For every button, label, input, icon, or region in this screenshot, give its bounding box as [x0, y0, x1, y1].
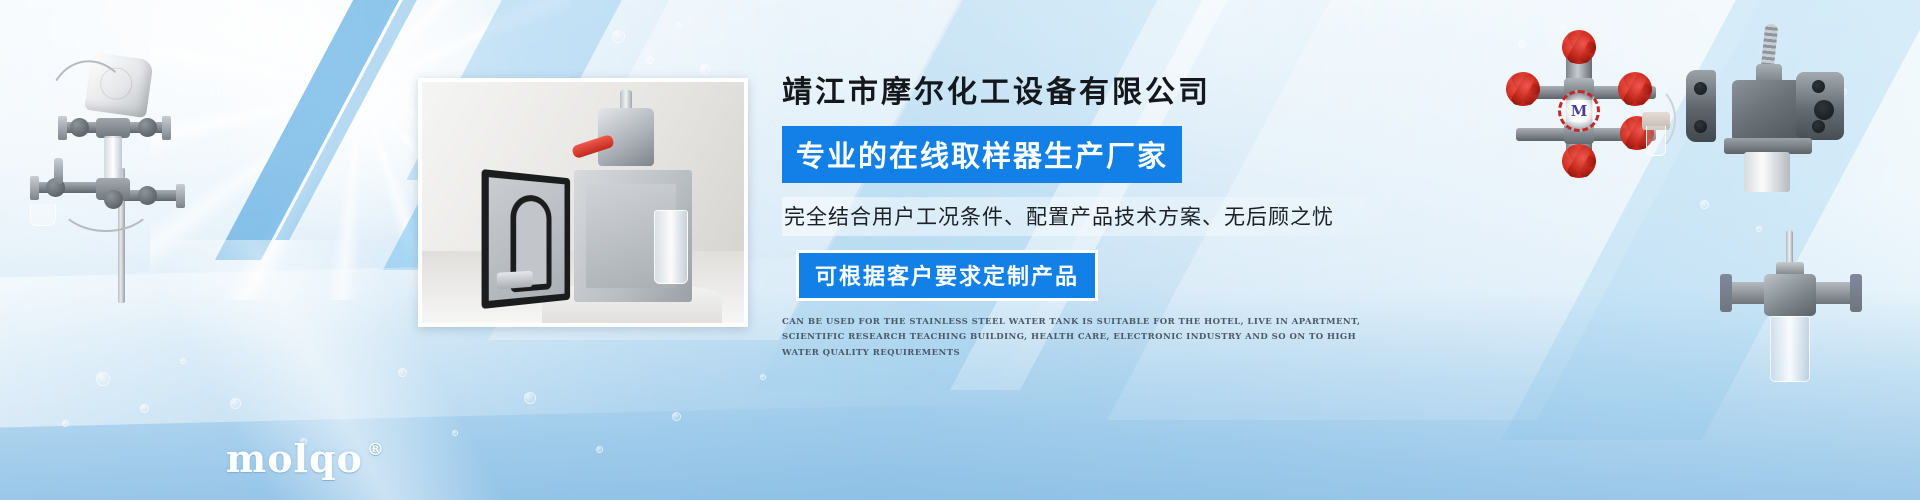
- banner-copy: 靖江市摩尔化工设备有限公司 专业的在线取样器生产厂家 完全结合用户工况条件、配置…: [782, 74, 1402, 362]
- company-seal-icon: M: [1558, 90, 1600, 132]
- english-description: CAN BE USED FOR THE STAINLESS STEEL WATE…: [782, 315, 1382, 362]
- brand-wordmark: molqo: [226, 440, 363, 478]
- product-photo-card: [418, 78, 748, 327]
- headline-badge: 专业的在线取样器生产厂家: [782, 126, 1182, 183]
- page-title: 靖江市摩尔化工设备有限公司: [782, 74, 1402, 112]
- product-image-sampler-left: [10, 18, 240, 303]
- registered-trademark-icon: ®: [367, 442, 384, 459]
- product-image-lever-valve: [1680, 28, 1865, 188]
- brand-watermark: molqo ®: [226, 440, 384, 478]
- product-image-cross-sampler: M: [1498, 28, 1688, 178]
- diagonal-stripe: [215, 0, 431, 260]
- promotional-banner: M 靖江市摩尔化工设备有限公司 专业的在线取样器生产厂家 完全结合用户工况条件、…: [0, 0, 1920, 500]
- custom-product-cta[interactable]: 可根据客户要求定制产品: [796, 250, 1098, 301]
- product-photo-sampling-cabinet: [422, 82, 744, 323]
- product-image-small-valve: [1718, 230, 1878, 400]
- subheadline-text: 完全结合用户工况条件、配置产品技术方案、无后顾之忧: [782, 197, 1402, 236]
